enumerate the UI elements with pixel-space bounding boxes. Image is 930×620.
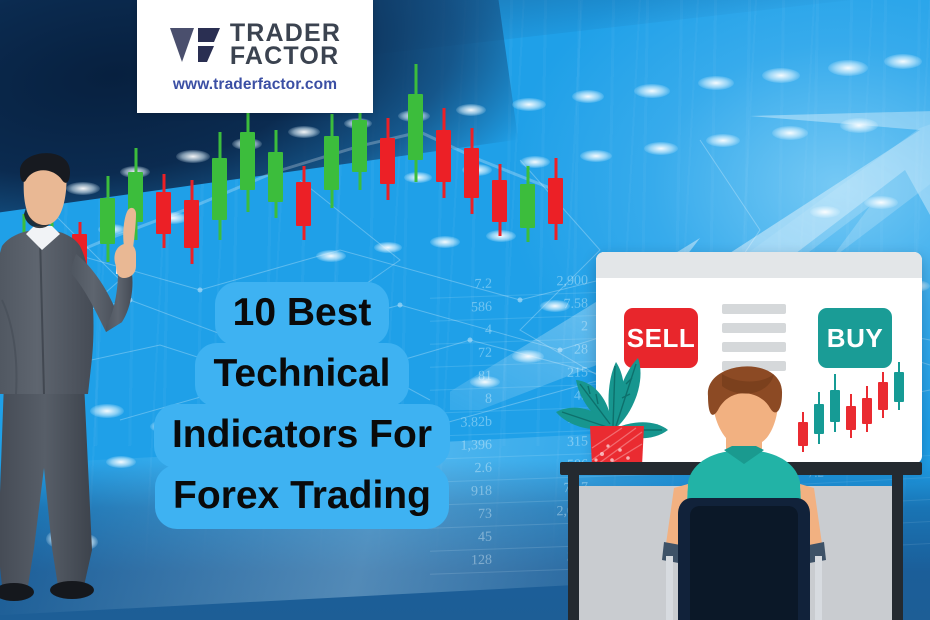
brand-name-line2: FACTOR (230, 45, 341, 68)
desk-leg-left (568, 475, 579, 620)
monitor-bezel (596, 252, 922, 278)
candlestick-body (380, 138, 395, 184)
brand-logo-box[interactable]: TRADER FACTOR www.traderfactor.com (137, 0, 373, 113)
headline-line-2: Technical (195, 343, 408, 407)
brand-url[interactable]: www.traderfactor.com (173, 76, 337, 94)
candlestick-body (352, 120, 367, 172)
mini-candlestick (894, 368, 904, 456)
candlestick-body (492, 180, 507, 222)
brand-logo-row: TRADER FACTOR (169, 22, 341, 68)
number-overlay-cell: 128 (430, 550, 492, 574)
candlestick (492, 80, 507, 340)
headline-line-3: Indicators For (154, 404, 450, 468)
mini-candlestick-body (894, 372, 904, 402)
candlestick-body (520, 184, 535, 228)
candlestick-body (436, 130, 451, 182)
candlestick (520, 80, 535, 340)
mini-candlestick (878, 368, 888, 456)
placeholder-bar (722, 323, 786, 333)
candlestick-body (268, 152, 283, 202)
headline-line-4: Forex Trading (155, 465, 449, 529)
brand-wordmark: TRADER FACTOR (230, 22, 341, 68)
mini-candlestick-body (846, 406, 856, 430)
candlestick-body (212, 158, 227, 220)
headline-line-1: 10 Best (215, 282, 390, 346)
trading-desk-scene: SELL BUY (552, 238, 930, 620)
candlestick-body (464, 148, 479, 198)
candlestick-body (408, 94, 423, 160)
mini-candlestick (846, 368, 856, 456)
mini-candlestick-body (878, 382, 888, 410)
candlestick-body (296, 182, 311, 226)
banner-image: 7.22,9005867.58427228812158453.82b1701,3… (0, 0, 930, 620)
placeholder-bar (722, 304, 786, 314)
desk-leg-right (892, 475, 903, 620)
page-title: 10 Best Technical Indicators For Forex T… (122, 282, 482, 526)
candlestick-body (184, 200, 199, 248)
placeholder-bar (722, 342, 786, 352)
mini-candlestick-body (862, 398, 872, 424)
candlestick-body (240, 132, 255, 190)
candlestick-body (548, 178, 563, 224)
number-overlay-cell: 45 (430, 527, 492, 551)
candlestick-body (324, 136, 339, 190)
traderfactor-vf-logo-icon (169, 24, 221, 66)
mini-candlestick (862, 368, 872, 456)
seated-trader (644, 358, 844, 620)
